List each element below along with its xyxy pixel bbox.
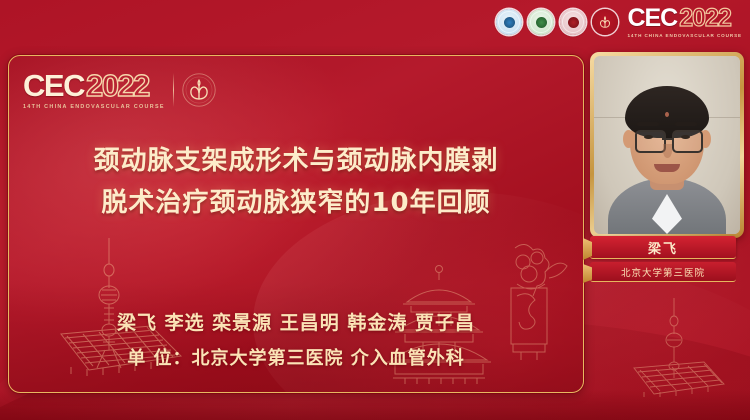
speaker-mouth [654, 164, 680, 172]
slide-title-line-1: 颈动脉支架成形术与颈动脉内膜剥 [9, 140, 583, 182]
header-cec-year: 2022 [679, 6, 731, 31]
header-cec-lockup: CEC 2022 14TH CHINA ENDOVASCULAR COURSE [627, 6, 742, 38]
banner-tail-left [583, 238, 592, 260]
cec-butterfly-logo-icon [592, 9, 618, 35]
header-cec-word: CEC [627, 6, 677, 31]
speaker-eye-right [681, 135, 690, 139]
top-header-bar: CEC 2022 14TH CHINA ENDOVASCULAR COURSE [0, 0, 750, 48]
slide-title-line-2: 脱术治疗颈动脉狭窄的10年回顾 [9, 182, 583, 224]
speaker-video-column: 梁飞 北京大学第三医院 [580, 48, 750, 420]
slide-panel: CEC 2022 14TH CHINA ENDOVASCULAR COURSE [8, 55, 584, 393]
speaker-name-plate: 梁飞 北京大学第三医院 [590, 236, 736, 282]
slide-title-block: 颈动脉支架成形术与颈动脉内膜剥 脱术治疗颈动脉狭窄的10年回顾 [9, 140, 583, 224]
speaker-glasses-bridge [662, 138, 672, 140]
speaker-video-frame[interactable] [590, 52, 744, 238]
slide-affiliation: 单 位：北京大学第三医院 介入血管外科 [9, 344, 583, 370]
speaker-eye-left [644, 135, 653, 139]
society-logo-3-icon [560, 9, 586, 35]
slide-cec-divider [173, 73, 174, 107]
speaker-forehead-mark [665, 112, 669, 117]
speaker-org-text: 北京大学第三医院 [621, 265, 705, 279]
slide-cec-subtitle: 14TH CHINA ENDOVASCULAR COURSE [23, 104, 165, 110]
speaker-glasses-lens-left [635, 130, 666, 153]
presentation-stage: CEC 2022 14TH CHINA ENDOVASCULAR COURSE … [0, 0, 750, 420]
society-logo-row: CEC 2022 14TH CHINA ENDOVASCULAR COURSE [496, 6, 742, 38]
header-cec-subtitle: 14TH CHINA ENDOVASCULAR COURSE [627, 33, 742, 38]
society-logo-2-icon [528, 9, 554, 35]
lotus-butterfly-emblem-icon [181, 72, 217, 108]
slide-cec-year: 2022 [86, 70, 149, 101]
speaker-glasses-lens-right [672, 130, 703, 153]
speaker-nose [663, 144, 672, 158]
speaker-eyebrow-left [637, 122, 659, 126]
speaker-eyebrow-right [675, 122, 697, 126]
slide-cec-lockup: CEC 2022 14TH CHINA ENDOVASCULAR COURSE [23, 70, 217, 110]
speaker-name-text: 梁飞 [648, 238, 678, 257]
slide-bottom-shade [9, 282, 583, 392]
slide-authors: 梁飞 李选 栾景源 王昌明 韩金涛 贾子昌 [9, 308, 583, 335]
society-logo-1-icon [496, 9, 522, 35]
speaker-org-banner: 北京大学第三医院 [590, 262, 736, 282]
speaker-video-feed[interactable] [594, 56, 740, 234]
slide-cec-word: CEC [23, 70, 84, 101]
speaker-name-banner: 梁飞 [590, 236, 736, 259]
speaker-ear-left [623, 130, 634, 148]
banner-tail-left-org [583, 264, 592, 283]
